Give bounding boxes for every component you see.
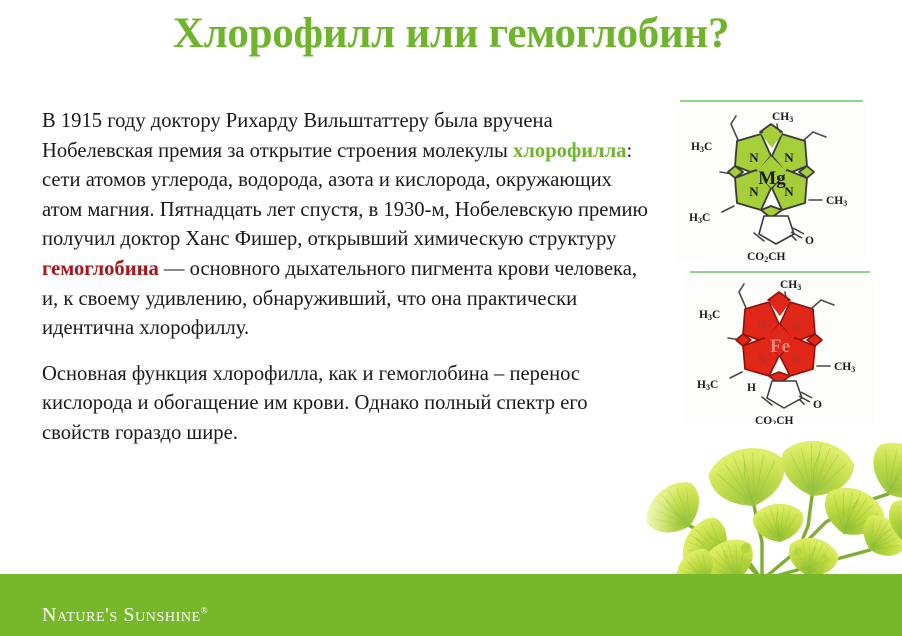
chlorophyll-methyl-lower-left-label: H3C xyxy=(689,212,710,225)
molecule-divider-middle xyxy=(690,271,870,273)
hemoglobin-nitrogen-label-1: N xyxy=(758,319,767,333)
hemoglobin-methyl-upper-left-label: H3C xyxy=(699,309,720,322)
ginkgo-leaves-decoration xyxy=(612,430,902,580)
page-title: Хлорофилл или гемоглобин? xyxy=(0,8,902,60)
brand-logo-line-2: Sunshine xyxy=(123,604,200,626)
hemoglobin-nitrogen-label-2: N xyxy=(793,319,802,333)
brand-logo: Nature's Sunshine® xyxy=(42,604,208,627)
paragraph-1: В 1915 году доктору Рихарду Вильштаттеру… xyxy=(42,107,650,344)
hemoglobin-center-atom-label: Fe xyxy=(770,336,790,357)
chlorophyll-oxygen-label: O xyxy=(805,235,814,247)
hemoglobin-nitrogen-label-4: N xyxy=(793,352,802,366)
trademark-symbol: ® xyxy=(201,605,208,615)
hemoglobin-methyl-lower-left-label: H3C xyxy=(697,379,718,392)
brand-logo-line-1: Nature's xyxy=(42,604,118,626)
chlorophyll-nitrogen-label-4: N xyxy=(784,184,794,199)
highlight-chlorophyll: хлорофилла xyxy=(513,140,626,162)
chlorophyll-nitrogen-label-1: N xyxy=(749,150,759,165)
paragraph-1-segment-1: В 1915 году доктору Рихарду Вильштаттеру… xyxy=(42,110,553,162)
body-text-column: В 1915 году доктору Рихарду Вильштаттеру… xyxy=(42,107,650,465)
chlorophyll-methyl-top-label: CH3 xyxy=(772,111,793,124)
slide-canvas: Хлорофилл или гемоглобин? В 1915 году до… xyxy=(0,0,902,636)
chlorophyll-center-atom-label: Mg xyxy=(758,168,786,189)
hemoglobin-oxygen-label: O xyxy=(813,399,822,411)
chlorophyll-ester-label: CO2CH xyxy=(747,251,786,262)
hemoglobin-nitrogen-label-3: N xyxy=(758,352,767,366)
paragraph-2: Основная функция хлорофилла, как и гемог… xyxy=(42,360,650,449)
chlorophyll-structure-image: N N N N Mg H3C H3C CH3 CH3 O CO2CH xyxy=(676,104,866,262)
highlight-hemoglobin: гемоглобина xyxy=(42,258,159,280)
chlorophyll-methyl-right-label: CH3 xyxy=(826,195,847,208)
hemoglobin-methyl-top-label: CH3 xyxy=(780,279,801,292)
chlorophyll-methyl-upper-left-label: H3C xyxy=(691,141,712,154)
chlorophyll-nitrogen-label-2: N xyxy=(784,150,794,165)
hemoglobin-methyl-right-label: CH3 xyxy=(834,361,855,374)
hemoglobin-ester-label: CO2CH xyxy=(755,415,794,424)
molecule-divider-top xyxy=(680,100,863,102)
hemoglobin-hydrogen-label: H xyxy=(747,382,756,394)
hemoglobin-structure-image: N N N N Fe H3C H3C CH3 CH3 H O CO2CH xyxy=(684,274,874,424)
